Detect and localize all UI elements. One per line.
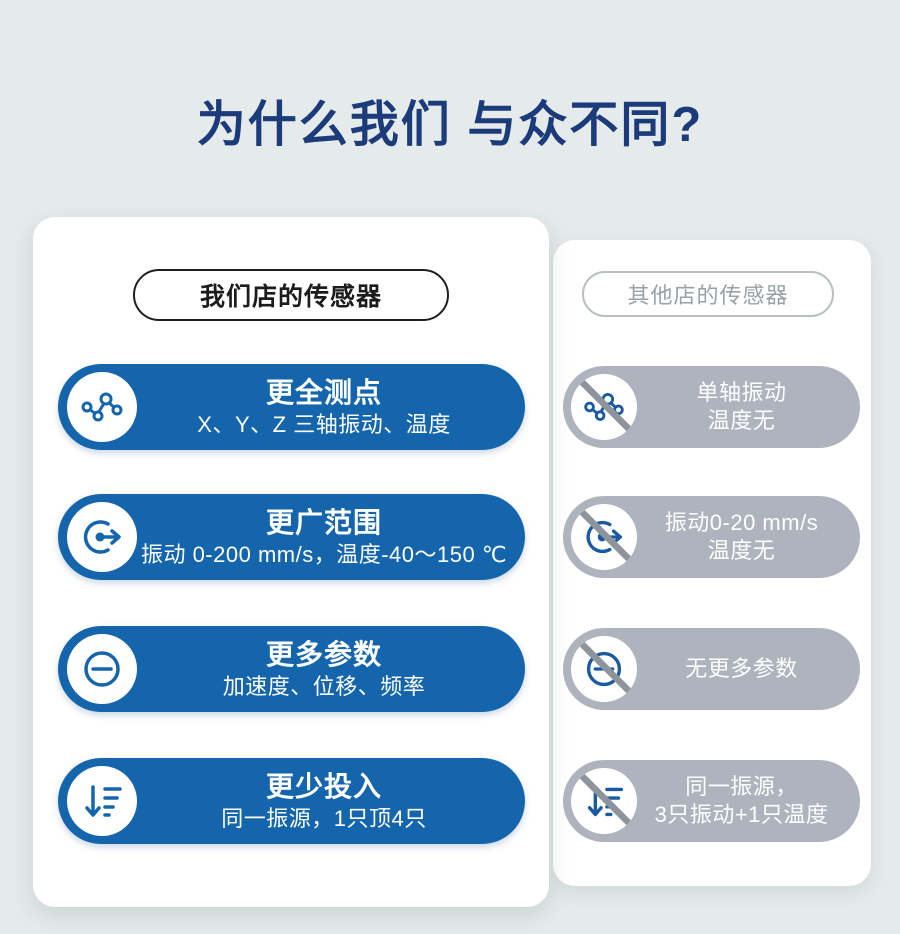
competitor-feature-line1: 无更多参数 <box>637 655 846 683</box>
competitor-feature-row: 同一振源， 3只振动+1只温度 <box>563 760 860 842</box>
ours-header-pill: 我们店的传感器 <box>133 269 449 321</box>
ours-header-label: 我们店的传感器 <box>200 277 382 313</box>
circle-arrow-out-icon <box>571 504 637 570</box>
competitor-feature-text: 无更多参数 <box>637 655 860 683</box>
competitor-feature-text: 单轴振动 温度无 <box>637 379 860 435</box>
ours-feature-row: 更多参数 加速度、位移、频率 <box>58 626 525 712</box>
competitor-feature-line1: 振动0-20 mm/s <box>637 509 846 537</box>
circle-arrow-out-icon <box>67 502 137 572</box>
ours-feature-row: 更广范围 振动 0-200 mm/s，温度-40～150 ℃ <box>58 494 525 580</box>
ours-feature-text: 更全测点 X、Y、Z 三轴振动、温度 <box>137 376 525 439</box>
competitor-feature-line2: 3只振动+1只温度 <box>637 801 846 829</box>
ours-feature-title: 更多参数 <box>137 638 511 671</box>
ours-feature-subtitle: 加速度、位移、频率 <box>137 673 511 701</box>
sort-descending-icon <box>67 766 137 836</box>
competitor-feature-line2: 温度无 <box>637 407 846 435</box>
network-nodes-icon <box>571 374 637 440</box>
ours-feature-title: 更全测点 <box>137 376 511 409</box>
competitor-feature-text: 同一振源， 3只振动+1只温度 <box>637 773 860 829</box>
competitor-feature-line1: 同一振源， <box>637 773 846 801</box>
ours-feature-subtitle: 同一振源，1只顶4只 <box>137 805 511 833</box>
sort-descending-icon <box>571 768 637 834</box>
competitor-feature-text: 振动0-20 mm/s 温度无 <box>637 509 860 565</box>
ours-feature-row: 更全测点 X、Y、Z 三轴振动、温度 <box>58 364 525 450</box>
network-nodes-icon <box>67 372 137 442</box>
minus-circle-icon <box>571 636 637 702</box>
competitor-feature-row: 无更多参数 <box>563 628 860 710</box>
ours-feature-row: 更少投入 同一振源，1只顶4只 <box>58 758 525 844</box>
competitor-feature-row: 单轴振动 温度无 <box>563 366 860 448</box>
ours-feature-text: 更广范围 振动 0-200 mm/s，温度-40～150 ℃ <box>137 506 525 569</box>
competitor-header-pill: 其他店的传感器 <box>582 271 834 317</box>
ours-feature-title: 更少投入 <box>137 770 511 803</box>
page-title: 为什么我们 与众不同? <box>0 96 900 155</box>
comparison-infographic: 为什么我们 与众不同? 我们店的传感器 其他店的传感器 <box>0 0 900 934</box>
ours-feature-title: 更广范围 <box>137 506 511 539</box>
competitor-feature-row: 振动0-20 mm/s 温度无 <box>563 496 860 578</box>
competitor-feature-line1: 单轴振动 <box>637 379 846 407</box>
minus-circle-icon <box>67 634 137 704</box>
ours-feature-text: 更多参数 加速度、位移、频率 <box>137 638 525 701</box>
competitor-feature-line2: 温度无 <box>637 537 846 565</box>
ours-feature-subtitle: X、Y、Z 三轴振动、温度 <box>137 411 511 439</box>
ours-feature-subtitle: 振动 0-200 mm/s，温度-40～150 ℃ <box>137 541 511 569</box>
competitor-header-label: 其他店的传感器 <box>627 278 788 310</box>
ours-feature-text: 更少投入 同一振源，1只顶4只 <box>137 770 525 833</box>
